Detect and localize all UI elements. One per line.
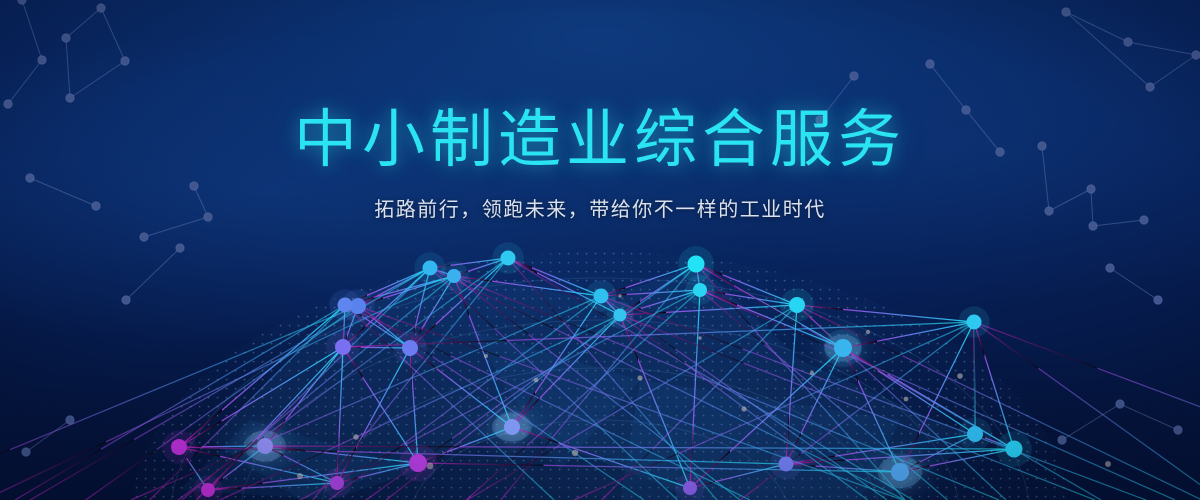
network-dome-graphic [0,0,1200,500]
page-subtitle: 拓路前行，领跑未来，带给你不一样的工业时代 [0,196,1200,224]
page-title: 中小制造业综合服务 [0,104,1200,176]
banner-hero: 中小制造业综合服务 拓路前行，领跑未来，带给你不一样的工业时代 [0,0,1200,500]
